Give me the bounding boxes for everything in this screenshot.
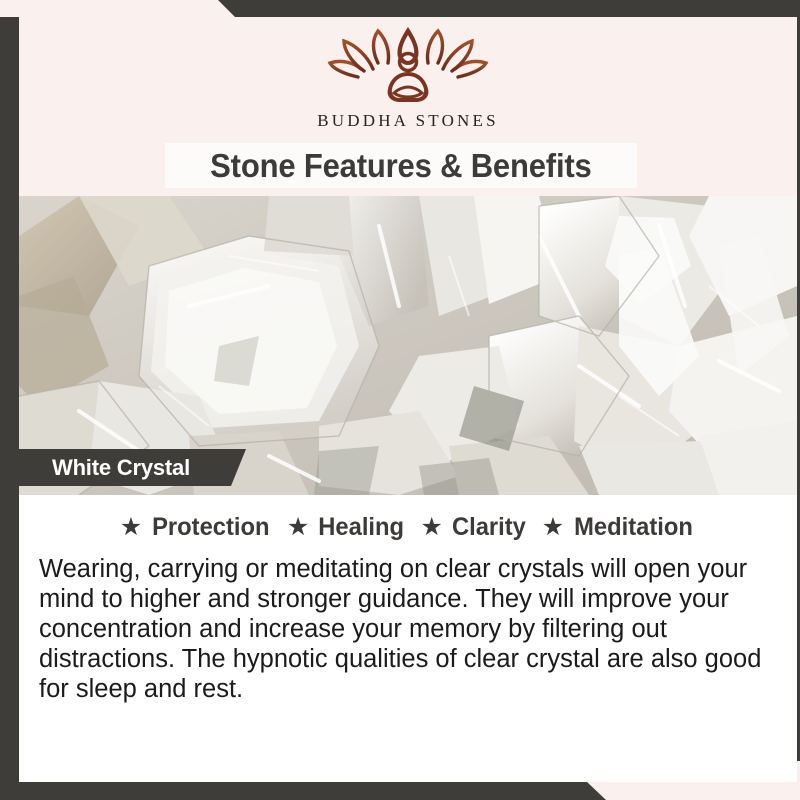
description-panel: ★ Protection ★ Healing ★ Clarity ★ Medit… <box>19 495 797 782</box>
star-icon: ★ <box>542 515 564 540</box>
stone-name-label: White Crystal <box>52 455 190 481</box>
benefit-label: Clarity <box>452 513 526 542</box>
frame-bottom-bar <box>0 782 800 800</box>
brand-logo-block: BUDDHA STONES <box>19 23 797 131</box>
benefit-label: Meditation <box>574 513 693 542</box>
frame-top-accent-bar <box>0 0 800 17</box>
frame-left-bar <box>0 17 19 782</box>
benefit-label: Protection <box>152 513 269 542</box>
star-icon: ★ <box>287 515 309 540</box>
star-icon: ★ <box>120 515 142 540</box>
benefit-item-protection: ★ Protection <box>120 513 273 542</box>
benefit-item-clarity: ★ Clarity <box>421 513 528 542</box>
benefits-row: ★ Protection ★ Healing ★ Clarity ★ Medit… <box>19 513 797 542</box>
benefit-item-meditation: ★ Meditation <box>542 513 696 542</box>
stone-name-badge: White Crystal <box>19 449 246 486</box>
brand-wordmark: BUDDHA STONES <box>317 111 499 131</box>
title-banner: Stone Features & Benefits <box>165 143 637 188</box>
stone-description-text: Wearing, carrying or meditating on clear… <box>39 554 779 704</box>
page-title: Stone Features & Benefits <box>210 147 591 185</box>
star-icon: ★ <box>421 515 443 540</box>
benefit-item-healing: ★ Healing <box>287 513 407 542</box>
benefit-label: Healing <box>319 513 405 542</box>
lotus-meditation-figure-icon <box>320 23 496 107</box>
